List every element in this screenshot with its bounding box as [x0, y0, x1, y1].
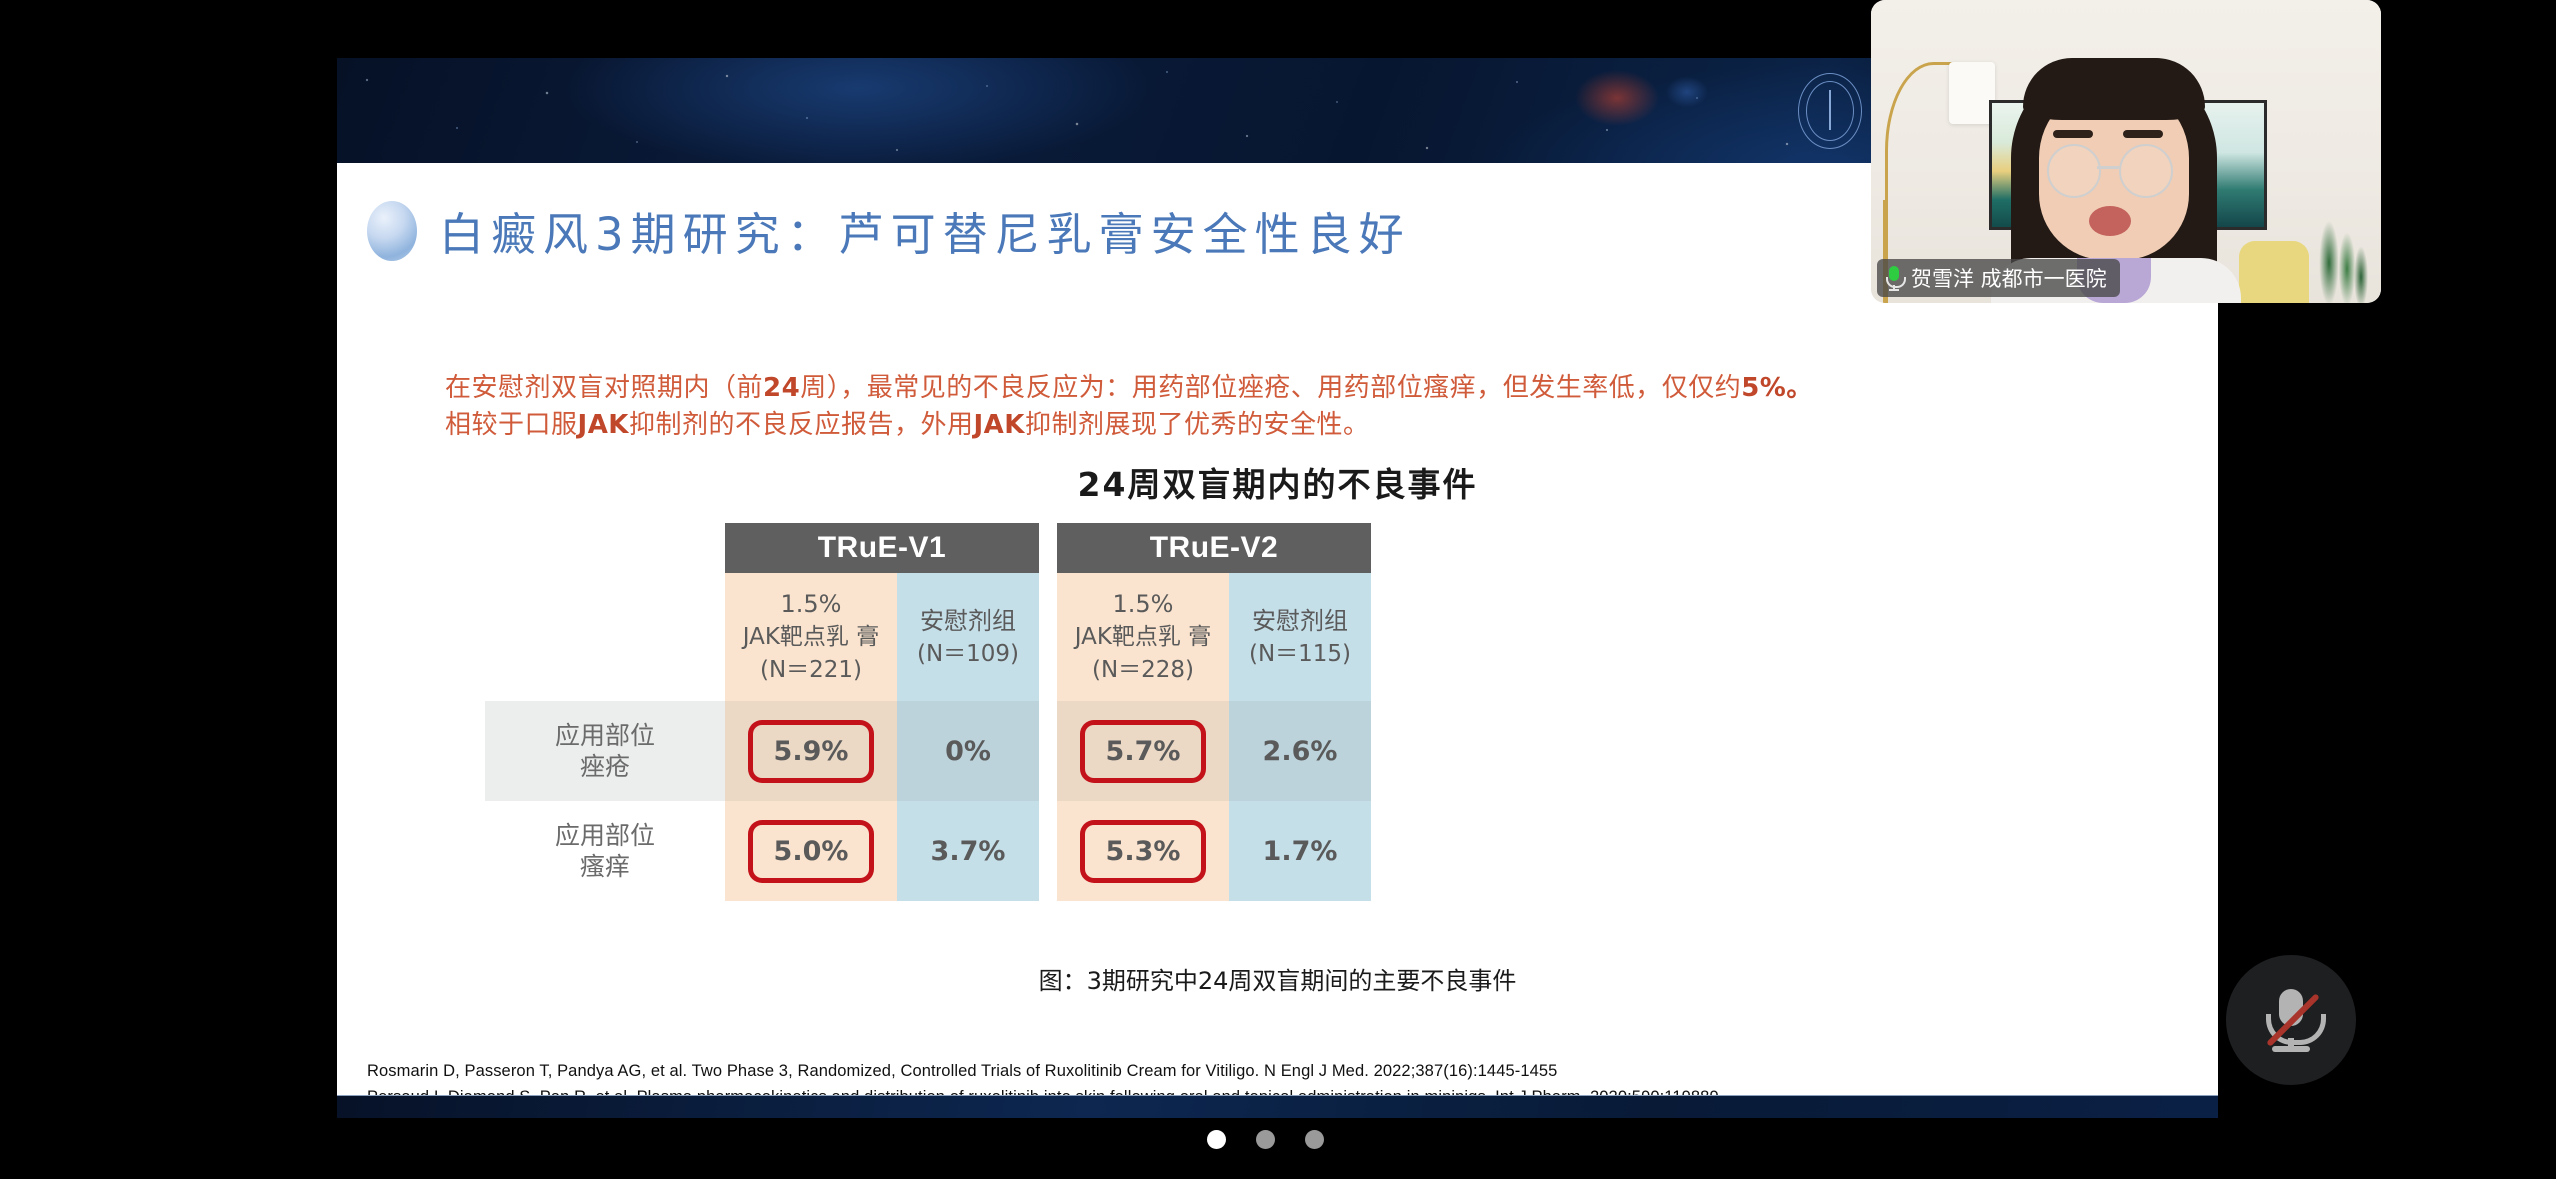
column-placebo-v2: 安慰剂组 (N＝115) 2.6% 1.7% [1229, 573, 1371, 901]
table-cell: 5.3% [1057, 801, 1229, 901]
table-group-gap [1039, 523, 1057, 901]
highlighted-value: 5.9% [748, 720, 875, 783]
cell-value: 3.7% [931, 836, 1006, 867]
table-row-label: 应用部位 瘙痒 [485, 801, 725, 901]
yellow-pillow [2239, 241, 2309, 303]
participant-name-badge: 贺雪洋 成都市一医院 [1877, 259, 2120, 297]
body-text-line2-part1: 相较于口服 [445, 410, 578, 440]
eyeglass-left [2047, 144, 2101, 198]
col-header-line1: 1.5% [781, 587, 842, 621]
participant-name: 贺雪洋 成都市一医院 [1911, 263, 2107, 293]
cell-value: 1.7% [1263, 836, 1338, 867]
eyeglass-right [2119, 144, 2173, 198]
table-row-label-column: 应用部位 痤疮 应用部位 瘙痒 [485, 523, 725, 901]
table-group-truev2: TRuE-V2 1.5% JAK靶点乳 膏 (N＝228) 5.7% 5.3% [1057, 523, 1371, 901]
column-treatment-v2: 1.5% JAK靶点乳 膏 (N＝228) 5.7% 5.3% [1057, 573, 1229, 901]
chart-heading: 24周双盲期内的不良事件 [337, 458, 2218, 506]
col-header-line1: 安慰剂组 [920, 604, 1016, 638]
table-cell: 0% [897, 701, 1039, 801]
column-header: 安慰剂组 (N＝115) [1229, 573, 1371, 701]
slide-body-text: 在安慰剂双盲对照期内（前24周），最常见的不良反应为：用药部位痤疮、用药部位瘙痒… [445, 370, 2145, 444]
cell-value: 2.6% [1263, 736, 1338, 767]
table-cell: 1.7% [1229, 801, 1371, 901]
table-cell: 5.7% [1057, 701, 1229, 801]
col-header-line2: JAK靶点乳 膏 [1075, 621, 1212, 654]
col-header-line3: (N＝221) [760, 654, 862, 687]
column-placebo-v1: 安慰剂组 (N＝109) 0% 3.7% [897, 573, 1039, 901]
page-indicator[interactable] [1207, 1130, 1324, 1149]
page-dot-2[interactable] [1256, 1130, 1275, 1149]
row-label-line1: 应用部位 [555, 820, 655, 851]
bullet-circle-icon [367, 201, 417, 261]
col-header-line2: (N＝109) [917, 638, 1019, 671]
microphone-muted-icon [2260, 986, 2322, 1054]
page-dot-1[interactable] [1207, 1130, 1226, 1149]
body-text-line2-part2: 抑制剂的不良反应报告，外用 [629, 410, 974, 440]
row-label-line1: 应用部位 [555, 720, 655, 751]
microphone-active-icon [1886, 266, 1902, 291]
column-header: 1.5% JAK靶点乳 膏 (N＝221) [725, 573, 897, 701]
eyeglass-bridge [2097, 166, 2119, 169]
participant-mouth [2089, 206, 2131, 236]
body-text-line1-part1: 在安慰剂双盲对照期内（前 [445, 373, 763, 403]
mute-toggle-button[interactable] [2226, 955, 2356, 1085]
column-header: 1.5% JAK靶点乳 膏 (N＝228) [1057, 573, 1229, 701]
group-header: TRuE-V2 [1057, 523, 1371, 573]
eyebrow-right [2123, 130, 2163, 138]
row-label-line2: 瘙痒 [555, 851, 655, 882]
participant-fringe [2023, 58, 2205, 120]
body-text-line1-part2: 周），最常见的不良反应为：用药部位痤疮、用药部位瘙痒，但发生率低，仅仅约 [800, 373, 1741, 403]
participant-video-tile[interactable]: 贺雪洋 成都市一医院 [1871, 0, 2381, 303]
col-header-line1: 安慰剂组 [1252, 604, 1348, 638]
highlighted-value: 5.3% [1080, 820, 1207, 883]
house-plant [2309, 193, 2375, 303]
slide-title: 白癜风3期研究：芦可替尼乳膏安全性良好 [439, 198, 1411, 263]
col-header-line1: 1.5% [1113, 587, 1174, 621]
body-text-line2-bold2: JAK [973, 410, 1024, 440]
column-header: 安慰剂组 (N＝109) [897, 573, 1039, 701]
col-header-line2: (N＝115) [1249, 638, 1351, 671]
medical-association-seal-icon [1798, 73, 1862, 149]
body-text-line2-part3: 抑制剂展现了优秀的安全性。 [1025, 410, 1370, 440]
table-cell: 5.9% [725, 701, 897, 801]
page-dot-3[interactable] [1305, 1130, 1324, 1149]
meeting-screen: 康哲美丽 CMS AESTHETICS 白癜风3期研究：芦可替尼乳膏安全性良好 … [0, 0, 2556, 1179]
table-row-label: 应用部位 痤疮 [485, 701, 725, 801]
slide-title-row: 白癜风3期研究：芦可替尼乳膏安全性良好 [367, 198, 1411, 263]
table-cell: 5.0% [725, 801, 897, 901]
col-header-line3: (N＝228) [1092, 654, 1194, 687]
reference-item: Rosmarin D, Passeron T, Pandya AG, et al… [367, 1058, 1723, 1084]
col-header-line2: JAK靶点乳 膏 [743, 621, 880, 654]
highlighted-value: 5.0% [748, 820, 875, 883]
highlighted-value: 5.7% [1080, 720, 1207, 783]
slide-footer-strip [337, 1095, 2218, 1118]
body-text-line1-bold2: 5%。 [1741, 373, 1813, 403]
body-text-line1-bold1: 24 [763, 373, 800, 403]
eyebrow-left [2053, 130, 2093, 138]
cell-value: 0% [945, 736, 991, 767]
table-group-truev1: TRuE-V1 1.5% JAK靶点乳 膏 (N＝221) 5.9% 5.0% [725, 523, 1039, 901]
body-text-line2-bold1: JAK [578, 410, 629, 440]
row-label-line2: 痤疮 [555, 751, 655, 782]
table-cell: 3.7% [897, 801, 1039, 901]
column-treatment-v1: 1.5% JAK靶点乳 膏 (N＝221) 5.9% 5.0% [725, 573, 897, 901]
table-cell: 2.6% [1229, 701, 1371, 801]
group-header: TRuE-V1 [725, 523, 1039, 573]
adverse-events-table: 应用部位 痤疮 应用部位 瘙痒 TRuE-V1 1.5 [485, 523, 2075, 901]
figure-caption: 图：3期研究中24周双盲期间的主要不良事件 [337, 961, 2218, 996]
